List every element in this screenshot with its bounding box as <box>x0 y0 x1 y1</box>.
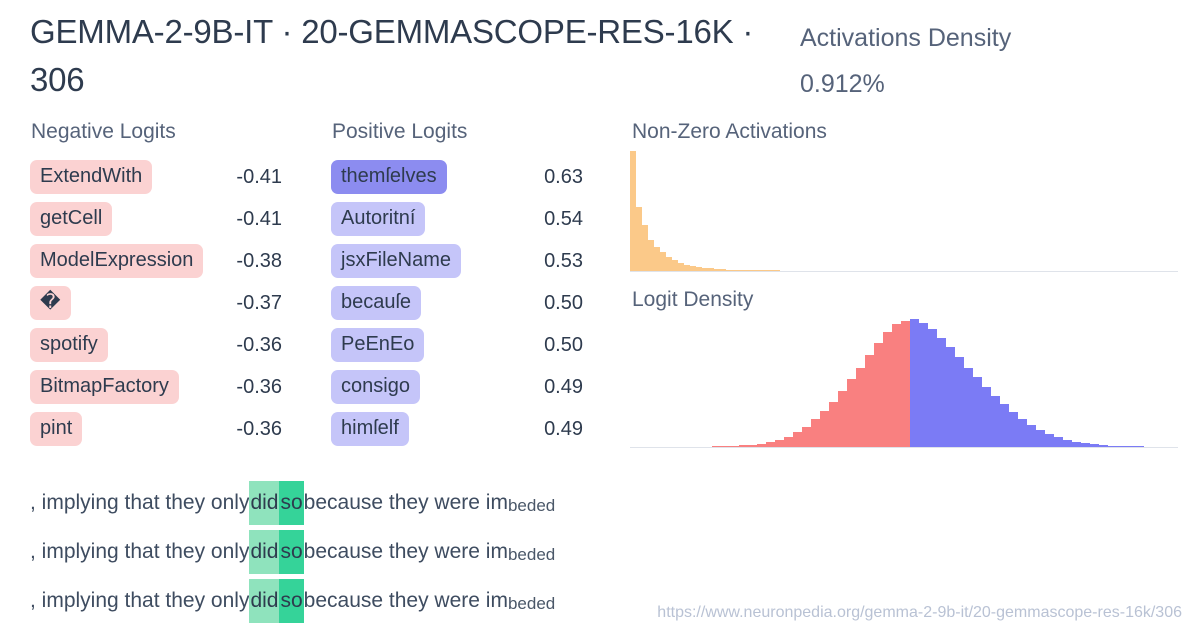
density-bar <box>874 343 883 447</box>
density-bar <box>955 357 964 447</box>
logit-density-heading: Logit Density <box>632 288 753 312</box>
density-bar <box>883 332 892 447</box>
logit-row[interactable]: becauſe0.50 <box>331 282 601 324</box>
logit-value: -0.41 <box>236 208 282 231</box>
logit-density-bars <box>630 319 1178 447</box>
logit-value: 0.53 <box>544 250 583 273</box>
negative-logits-list: ExtendWith-0.41getCell-0.41 ModelExpress… <box>30 156 300 450</box>
logit-token-chip[interactable]: pint <box>30 412 82 446</box>
logit-chart-axis <box>630 447 1178 448</box>
density-bar <box>901 321 910 447</box>
logit-row[interactable]: himſelf0.49 <box>331 408 601 450</box>
density-bar <box>838 391 847 447</box>
logit-token-chip[interactable]: jsxFileName <box>331 244 461 278</box>
logit-value: 0.54 <box>544 208 583 231</box>
logit-token-chip[interactable]: himſelf <box>331 412 409 446</box>
density-bar <box>892 324 901 447</box>
logit-value: 0.49 <box>544 376 583 399</box>
logit-row[interactable]: themſelves0.63 <box>331 156 601 198</box>
feature-card: GEMMA-2-9B-IT · 20-GEMMASCOPE-RES-16K · … <box>0 0 1200 630</box>
non-zero-activations-chart <box>630 152 1178 272</box>
logit-row[interactable]: pint-0.36 <box>30 408 300 450</box>
activation-token-suffix: beded <box>508 587 555 621</box>
logit-token-chip[interactable]: Autoritní <box>331 202 425 236</box>
activation-text-list: , implying that they only didso because … <box>30 478 1170 625</box>
logit-value: -0.36 <box>236 418 282 441</box>
activation-token-middle: because they were im <box>304 484 508 522</box>
logit-token-chip[interactable]: � <box>30 286 71 320</box>
density-bar <box>820 411 829 447</box>
density-bar <box>1045 434 1054 447</box>
activation-token-middle: because they were im <box>304 582 508 620</box>
logit-row[interactable]: Autoritní0.54 <box>331 198 601 240</box>
activation-token-highlight-strong: so <box>279 530 303 574</box>
logit-row[interactable]: spotify-0.36 <box>30 324 300 366</box>
density-bar <box>910 319 919 447</box>
logit-token-chip[interactable]: consigo <box>331 370 420 404</box>
activation-token-prefix: , implying that they only <box>30 533 249 571</box>
density-bar <box>793 432 802 447</box>
logit-value: 0.63 <box>544 166 583 189</box>
activations-density-value: 0.912% <box>800 61 1011 107</box>
logit-row[interactable]: consigo0.49 <box>331 366 601 408</box>
logit-token-chip[interactable]: getCell <box>30 202 112 236</box>
activation-token-prefix: , implying that they only <box>30 484 249 522</box>
positive-logits-heading: Positive Logits <box>332 120 467 144</box>
activation-chart-axis <box>630 271 1178 272</box>
density-bar <box>946 347 955 447</box>
activation-token-highlight-light: did <box>249 481 279 525</box>
logit-value: -0.41 <box>236 166 282 189</box>
activation-text-row[interactable]: , implying that they only didso because … <box>30 527 1170 576</box>
density-bar <box>991 396 1000 447</box>
activation-token-prefix: , implying that they only <box>30 582 249 620</box>
density-bar <box>865 355 874 447</box>
density-bar <box>973 377 982 447</box>
logit-row[interactable]: PeEnEo0.50 <box>331 324 601 366</box>
logit-token-chip[interactable]: PeEnEo <box>331 328 424 362</box>
positive-logits-list: themſelves0.63Autoritní0.54jsxFileName0.… <box>331 156 601 450</box>
activation-token-suffix: beded <box>508 489 555 523</box>
density-bar <box>919 323 928 447</box>
logit-token-chip[interactable]: ModelExpression <box>30 244 203 278</box>
density-bar <box>1018 419 1027 447</box>
density-bar <box>964 368 973 447</box>
logit-value: 0.50 <box>544 292 583 315</box>
density-bar <box>1009 412 1018 447</box>
density-bar <box>1036 430 1045 447</box>
logit-token-chip[interactable]: BitmapFactory <box>30 370 179 404</box>
density-bar <box>1027 425 1036 447</box>
density-bar <box>937 338 946 447</box>
activation-token-middle: because they were im <box>304 533 508 571</box>
density-bar <box>928 329 937 447</box>
logit-value: -0.36 <box>236 334 282 357</box>
logit-token-chip[interactable]: becauſe <box>331 286 421 320</box>
page-title: GEMMA-2-9B-IT · 20-GEMMASCOPE-RES-16K · … <box>30 8 800 104</box>
activations-density-label: Activations Density <box>800 15 1011 61</box>
logit-value: 0.50 <box>544 334 583 357</box>
logit-token-chip[interactable]: themſelves <box>331 160 447 194</box>
density-bar <box>775 440 784 447</box>
density-bar <box>1063 440 1072 447</box>
activations-density-stat: Activations Density 0.912% <box>800 8 1011 107</box>
logit-row[interactable]: jsxFileName0.53 <box>331 240 601 282</box>
activation-token-highlight-light: did <box>249 579 279 623</box>
logit-row[interactable]: ExtendWith-0.41 <box>30 156 300 198</box>
logit-row[interactable]: �-0.37 <box>30 282 300 324</box>
density-bar <box>1000 404 1009 447</box>
density-bar <box>847 379 856 447</box>
activation-histogram-bars <box>630 151 1178 271</box>
density-bar <box>811 419 820 447</box>
density-bar <box>982 387 991 447</box>
activation-token-highlight-light: did <box>249 530 279 574</box>
activation-token-highlight-strong: so <box>279 579 303 623</box>
logit-density-chart <box>630 320 1178 448</box>
logit-token-chip[interactable]: spotify <box>30 328 108 362</box>
negative-logits-heading: Negative Logits <box>31 120 176 144</box>
logit-value: -0.37 <box>236 292 282 315</box>
logit-row[interactable]: BitmapFactory-0.36 <box>30 366 300 408</box>
logit-token-chip[interactable]: ExtendWith <box>30 160 152 194</box>
logit-row[interactable]: getCell-0.41 <box>30 198 300 240</box>
logit-value: -0.36 <box>236 376 282 399</box>
non-zero-activations-heading: Non-Zero Activations <box>632 120 827 144</box>
activation-token-suffix: beded <box>508 538 555 572</box>
logit-value: 0.49 <box>544 418 583 441</box>
density-bar <box>856 368 865 447</box>
logit-value: -0.38 <box>236 250 282 273</box>
density-bar <box>829 402 838 447</box>
density-bar <box>784 437 793 447</box>
density-bar <box>802 427 811 447</box>
header: GEMMA-2-9B-IT · 20-GEMMASCOPE-RES-16K · … <box>30 8 1180 107</box>
activation-token-highlight-strong: so <box>279 481 303 525</box>
density-bar <box>1054 437 1063 447</box>
logit-row[interactable]: ModelExpression-0.38 <box>30 240 300 282</box>
activation-text-row[interactable]: , implying that they only didso because … <box>30 478 1170 527</box>
source-url[interactable]: https://www.neuronpedia.org/gemma-2-9b-i… <box>657 604 1182 622</box>
